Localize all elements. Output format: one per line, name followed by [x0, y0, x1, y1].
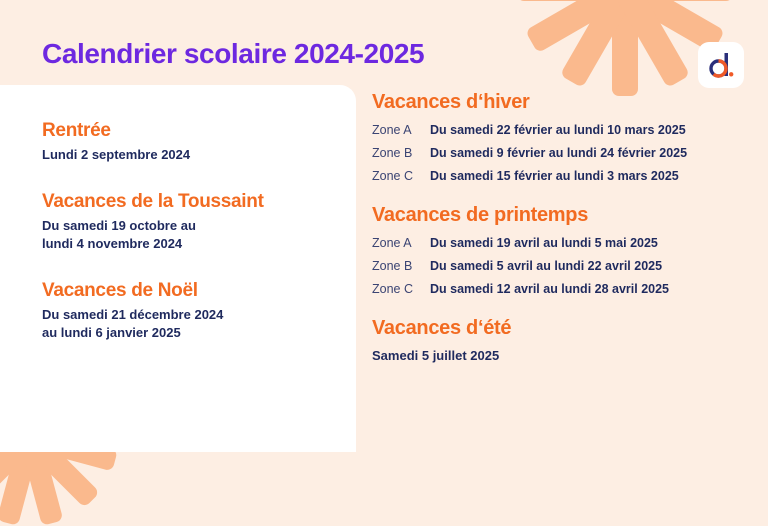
starburst-ray [525, 0, 632, 53]
starburst-ray [517, 0, 625, 1]
starburst-ray [625, 0, 733, 1]
section-heading: Vacances de Noël [42, 280, 342, 303]
zone-row: Zone C Du samedi 15 février au lundi 3 m… [372, 169, 752, 183]
zone-label: Zone C [372, 282, 430, 296]
zone-date: Du samedi 9 février au lundi 24 février … [430, 146, 687, 160]
zone-row: Zone B Du samedi 5 avril au lundi 22 avr… [372, 259, 752, 273]
section-toussaint: Vacances de la Toussaint Du samedi 19 oc… [42, 191, 342, 252]
section-printemps: Vacances de printemps Zone A Du samedi 1… [372, 203, 752, 296]
section-date: Lundi 2 septembre 2024 [42, 146, 342, 164]
zone-date: Du samedi 22 février au lundi 10 mars 20… [430, 123, 686, 137]
zone-row: Zone A Du samedi 19 avril au lundi 5 mai… [372, 236, 752, 250]
section-heading: Vacances d‘hiver [372, 90, 752, 114]
logo-d-icon [706, 50, 736, 80]
section-date: Samedi 5 juillet 2025 [372, 347, 752, 365]
section-rentree: Rentrée Lundi 2 septembre 2024 [42, 120, 342, 163]
section-heading: Rentrée [42, 120, 342, 143]
right-column: Vacances d‘hiver Zone A Du samedi 22 fév… [372, 90, 752, 385]
section-heading: Vacances de printemps [372, 203, 752, 227]
page-title: Calendrier scolaire 2024-2025 [42, 38, 424, 70]
zone-label: Zone C [372, 169, 430, 183]
section-date: Du samedi 21 décembre 2024au lundi 6 jan… [42, 306, 342, 341]
section-heading: Vacances d‘été [372, 316, 752, 340]
starburst-ray [560, 0, 637, 88]
zone-label: Zone B [372, 146, 430, 160]
starburst-ray [614, 0, 691, 88]
zone-date: Du samedi 15 février au lundi 3 mars 202… [430, 169, 679, 183]
zone-label: Zone B [372, 259, 430, 273]
zone-label: Zone A [372, 123, 430, 137]
section-noel: Vacances de Noël Du samedi 21 décembre 2… [42, 280, 342, 341]
left-column: Rentrée Lundi 2 septembre 2024 Vacances … [42, 120, 342, 341]
zone-row: Zone C Du samedi 12 avril au lundi 28 av… [372, 282, 752, 296]
section-date: Du samedi 19 octobre aulundi 4 novembre … [42, 217, 342, 252]
zone-date: Du samedi 12 avril au lundi 28 avril 202… [430, 282, 669, 296]
zone-date: Du samedi 19 avril au lundi 5 mai 2025 [430, 236, 658, 250]
section-heading: Vacances de la Toussaint [42, 191, 342, 214]
section-hiver: Vacances d‘hiver Zone A Du samedi 22 fév… [372, 90, 752, 183]
brand-logo[interactable] [698, 42, 744, 88]
starburst-core [577, 0, 673, 36]
section-ete: Vacances d‘été Samedi 5 juillet 2025 [372, 316, 752, 365]
zone-row: Zone A Du samedi 22 février au lundi 10 … [372, 123, 752, 137]
zone-date: Du samedi 5 avril au lundi 22 avril 2025 [430, 259, 662, 273]
zone-row: Zone B Du samedi 9 février au lundi 24 f… [372, 146, 752, 160]
zone-label: Zone A [372, 236, 430, 250]
starburst-ray [612, 0, 638, 96]
